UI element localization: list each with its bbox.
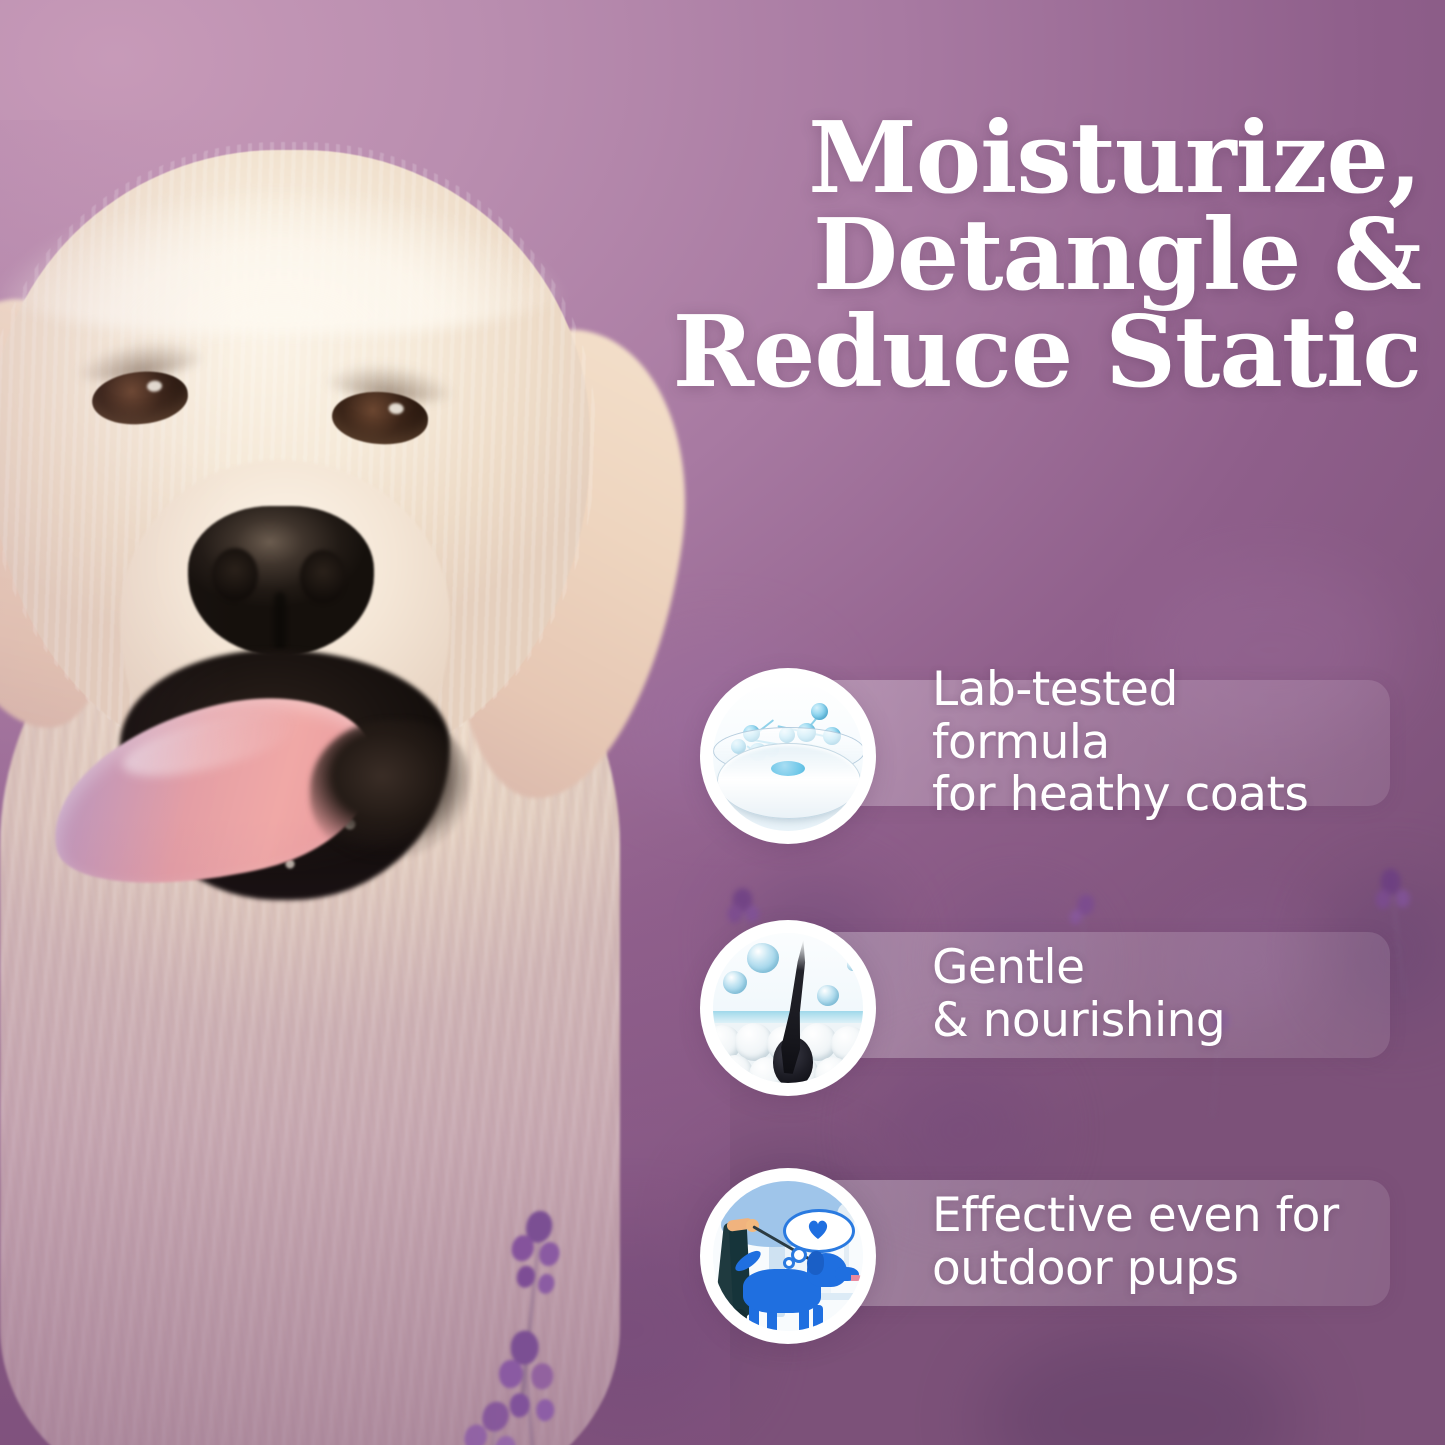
water-droplet xyxy=(817,985,839,1006)
water-droplet xyxy=(847,959,859,971)
feature-item-outdoor-pups: Effective even for outdoor pups xyxy=(700,1168,1390,1318)
dog-leg xyxy=(813,1305,823,1331)
dog-head-fluff xyxy=(0,144,600,334)
petri-dish-molecule-icon xyxy=(700,668,876,844)
petri-dish-base xyxy=(717,743,861,819)
feature-label-line-2: outdoor pups xyxy=(932,1243,1366,1296)
thought-bubble-dot xyxy=(783,1257,795,1269)
dog-ear xyxy=(807,1251,824,1275)
dog-tongue xyxy=(851,1275,863,1281)
marketing-banner: Moisturize, Detangle & Reduce Static xyxy=(0,0,1445,1445)
headline-line-3: Reduce Static xyxy=(661,304,1421,401)
dog-walking-icon xyxy=(700,1168,876,1344)
feature-label-line-1: Gentle xyxy=(932,942,1366,995)
person-shoe xyxy=(717,1309,747,1321)
feature-label-line-1: Lab-tested formula xyxy=(932,664,1366,769)
water-droplet xyxy=(747,943,779,973)
water-droplet xyxy=(723,971,747,994)
feature-label: Lab-tested formula for heathy coats xyxy=(932,664,1366,822)
page-title: Moisturize, Detangle & Reduce Static xyxy=(661,110,1421,401)
hair-follicle-icon xyxy=(700,920,876,1096)
headline-line-1: Moisturize, xyxy=(661,110,1421,207)
feature-label-line-1: Effective even for xyxy=(932,1190,1366,1243)
feature-label: Gentle & nourishing xyxy=(932,942,1366,1047)
headline-line-2: Detangle & xyxy=(661,207,1421,304)
petri-dish-sample xyxy=(771,761,805,776)
feature-label-line-2: for heathy coats xyxy=(932,769,1366,822)
feature-item-gentle-nourishing: Gentle & nourishing xyxy=(700,920,1390,1070)
feature-label: Effective even for outdoor pups xyxy=(932,1190,1366,1295)
feature-label-line-2: & nourishing xyxy=(932,995,1366,1048)
feature-item-lab-tested: Lab-tested formula for heathy coats xyxy=(700,668,1390,818)
